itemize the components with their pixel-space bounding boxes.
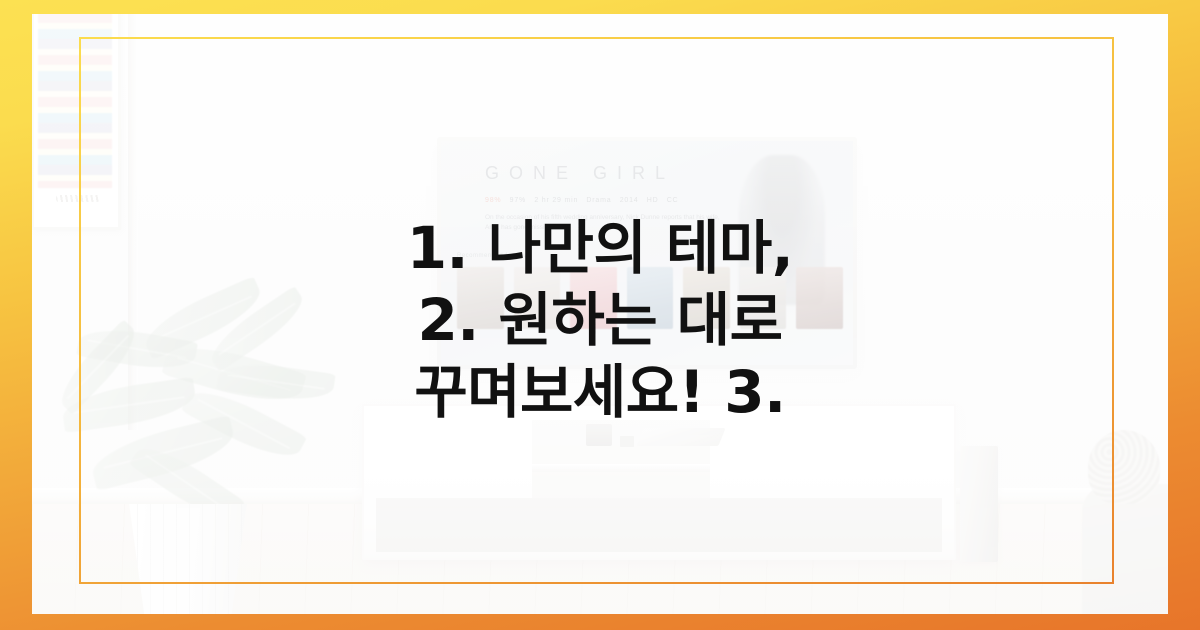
tv-meta-genre: Drama (586, 197, 611, 204)
tv-movie-description: On the occasion of his fifth wedding ann… (485, 213, 735, 233)
artwork-stripes (38, 14, 112, 188)
tv-poster (683, 267, 730, 329)
tv-poster (740, 267, 787, 329)
console-lower-drawer (376, 498, 942, 552)
framed-artwork (32, 14, 121, 230)
console-shelf (532, 464, 710, 472)
photo-panel: GONE GIRL 98% 97% 2 hr 29 min Drama 2014… (32, 14, 1168, 614)
room-photo-background: GONE GIRL 98% 97% 2 hr 29 min Drama 2014… (32, 14, 1168, 614)
tv-shelf-label: Recommended for you (457, 253, 527, 259)
tv-poster (514, 267, 561, 329)
tv-poster (627, 267, 674, 329)
console-remote (620, 436, 634, 447)
tv-movie-title: GONE GIRL (485, 163, 675, 184)
tv-screen: GONE GIRL 98% 97% 2 hr 29 min Drama 2014… (441, 141, 853, 365)
vertical-speaker (960, 446, 998, 562)
console-game-device (636, 428, 725, 446)
tv-poster-row (457, 267, 843, 329)
tv-meta-quality: HD (647, 197, 659, 204)
tv-meta-caption: CC (667, 197, 679, 204)
wall-corner-edge (128, 14, 138, 430)
tv-poster (570, 267, 617, 329)
tv-media-console (362, 404, 956, 560)
tv-poster (796, 267, 843, 329)
tv-meta-year: 2014 (620, 197, 639, 204)
console-device (586, 424, 612, 446)
tv-meta-match: 97% (510, 197, 526, 204)
tv-meta-duration: 2 hr 29 min (534, 197, 578, 204)
artwork-signature (56, 195, 100, 202)
tv-movie-meta: 98% 97% 2 hr 29 min Drama 2014 HD CC (485, 197, 678, 204)
television: GONE GIRL 98% 97% 2 hr 29 min Drama 2014… (437, 137, 857, 369)
side-chair (1082, 484, 1168, 614)
tv-meta-score: 98% (485, 197, 501, 204)
plant-pot (124, 504, 252, 614)
tv-poster (457, 267, 504, 329)
thumbnail-card: GONE GIRL 98% 97% 2 hr 29 min Drama 2014… (0, 0, 1200, 630)
